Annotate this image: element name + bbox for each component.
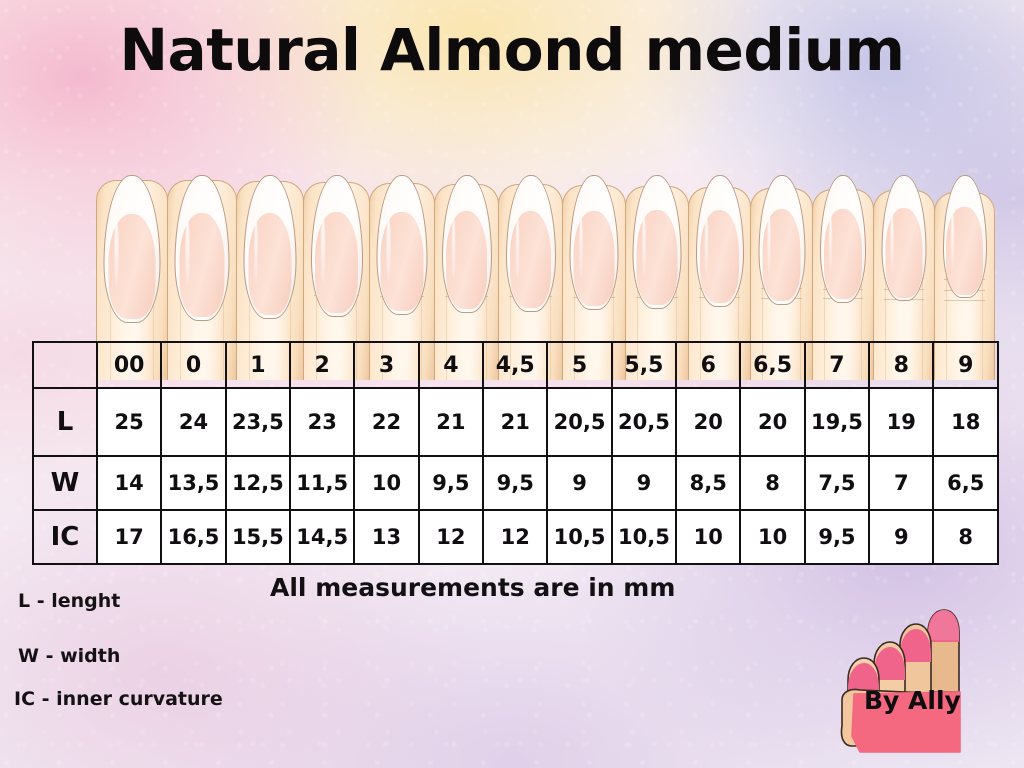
nail-shape [442,175,492,313]
measurement-cell: 13,5 [161,456,225,510]
size-header-cell: 3 [354,342,418,388]
legend-length: L - lenght [18,590,120,612]
size-header-cell: 4,5 [483,342,547,388]
size-header-cell: 7 [805,342,869,388]
nail-shape [104,175,161,323]
measurement-cell: 9,5 [805,510,869,564]
nail-highlight [705,215,708,275]
measurement-cell: 10,5 [547,510,611,564]
table-header-row: 00012344,555,566,5789 [33,342,998,388]
measurement-cell: 8 [740,456,804,510]
measurement-cell: 24 [161,388,225,456]
measurement-cell: 17 [97,510,161,564]
legend-width: W - width [18,645,120,667]
size-header-cell: 6,5 [740,342,804,388]
size-header-cell: 6 [676,342,740,388]
hand-with-nails-icon [824,596,1024,768]
measurement-cell: 21 [483,388,547,456]
measurement-cell: 14,5 [290,510,354,564]
table-corner-cell [33,342,97,388]
nail-size-chart-page: Natural Almond medium 00012344,555,566,5… [0,0,1024,768]
measurement-cell: 20 [676,388,740,456]
measurement-cell: 23,5 [226,388,290,456]
nail-shape [633,175,682,309]
measurement-cell: 14 [97,456,161,510]
measurement-cell: 20,5 [547,388,611,456]
nail-highlight [768,214,771,273]
measurement-cell: 9,5 [483,456,547,510]
size-header-cell: 2 [290,342,354,388]
measurement-cell: 9 [612,456,676,510]
size-header-cell: 0 [161,342,225,388]
size-header-cell: 5,5 [612,342,676,388]
nail-highlight [321,218,325,282]
nail-shape [570,175,619,310]
measurement-cell: 12 [483,510,547,564]
size-header-cell: 4 [419,342,483,388]
measurement-cell: 19,5 [805,388,869,456]
table-head: 00012344,555,566,5789 [33,342,998,388]
measurement-cell: 8,5 [676,456,740,510]
nail-highlight [387,217,390,280]
brand-logo: By Ally [824,596,1024,768]
row-label-cell: IC [33,510,97,564]
measurement-cell: 25 [97,388,161,456]
measurement-cell: 12,5 [226,456,290,510]
measurement-cell: 7 [869,456,933,510]
size-header-cell: 5 [547,342,611,388]
nail-shape [377,175,428,315]
row-label-cell: W [33,456,97,510]
measurement-cell: 15,5 [226,510,290,564]
nail-shape [244,175,297,319]
nail-shape [696,175,744,307]
measurement-cell: 10 [354,456,418,510]
nail-shape [882,175,927,301]
nail-shape [943,175,987,298]
measurement-cell: 10,5 [612,510,676,564]
measurement-cell: 9,5 [419,456,483,510]
nail-highlight [951,212,954,268]
measurement-cell: 7,5 [805,456,869,510]
size-header-cell: 1 [226,342,290,388]
table-row: L252423,52322212120,520,5202019,51918 [33,388,998,456]
nail-shape [506,175,556,312]
measurement-cell: 23 [290,388,354,456]
nail-shape [758,175,805,305]
nail-highlight [186,219,190,285]
legend-inner-curvature: IC - inner curvature [14,688,223,710]
measurement-cell: 10 [740,510,804,564]
measurement-cell: 20 [740,388,804,456]
measurement-cell: 20,5 [612,388,676,456]
size-chart-table: 00012344,555,566,5789 L252423,5232221212… [32,341,999,565]
measurement-cell: 8 [933,510,998,564]
size-header-cell: 8 [869,342,933,388]
measurement-cell: 18 [933,388,998,456]
row-label-cell: L [33,388,97,456]
measurement-cell: 10 [676,510,740,564]
table-row: W1413,512,511,5109,59,5998,587,576,5 [33,456,998,510]
measurement-cell: 22 [354,388,418,456]
measurement-cell: 19 [869,388,933,456]
nail-shape [311,175,363,317]
measurement-cell: 12 [419,510,483,564]
size-header-cell: 00 [97,342,161,388]
size-header-cell: 9 [933,342,998,388]
measurement-cell: 9 [547,456,611,510]
measurement-cell: 13 [354,510,418,564]
brand-name: By Ally [864,686,1024,715]
nail-shape [820,175,866,303]
finger-crease-line [944,300,984,301]
measurement-units-note: All measurements are in mm [270,573,675,602]
measurement-cell: 6,5 [933,456,998,510]
table-body: L252423,52322212120,520,5202019,51918W14… [33,388,998,564]
measurement-cell: 21 [419,388,483,456]
page-title: Natural Almond medium [0,20,1024,81]
measurement-cell: 9 [869,510,933,564]
nail-shape [175,175,230,321]
table-row: IC1716,515,514,513121210,510,510109,598 [33,510,998,564]
measurement-cell: 11,5 [290,456,354,510]
measurement-cell: 16,5 [161,510,225,564]
